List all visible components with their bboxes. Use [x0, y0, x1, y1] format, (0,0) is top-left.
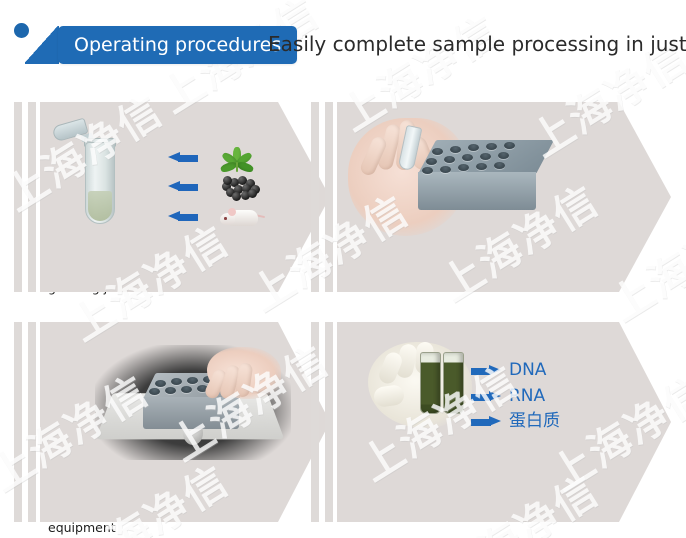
right-arrow-icon	[471, 416, 501, 427]
adapter-block-photo	[418, 140, 536, 212]
output-row-rna: RNA	[471, 388, 545, 405]
adapter-hole	[468, 144, 479, 151]
sample-vial	[443, 352, 464, 414]
adapter-hole	[498, 152, 509, 159]
adapter-hole	[450, 146, 461, 153]
adapter-hole	[149, 388, 160, 395]
adapter-hole	[480, 153, 491, 160]
header: Operating procedures Easily complete sam…	[0, 0, 686, 86]
adapter-hole	[426, 158, 437, 165]
operating-procedures-infographic: Operating procedures Easily complete sam…	[0, 0, 686, 538]
badge-tail-decoration	[25, 26, 59, 64]
left-arrow-icon	[168, 181, 198, 192]
page-title: Easily complete sample processing in jus…	[268, 29, 686, 60]
adapter-hole	[155, 380, 166, 387]
card-stripe-inner	[325, 322, 333, 522]
headline-text-before: Easily complete sample processing in jus…	[268, 32, 686, 56]
card-stripe-outer	[311, 102, 319, 292]
output-label-protein: 蛋白质	[509, 413, 560, 430]
adapter-hole	[181, 386, 192, 393]
badge-label: Operating procedures	[74, 36, 281, 55]
hand-photo-03	[207, 347, 281, 399]
adapter-block-front	[143, 397, 239, 429]
card-stripe-inner	[28, 322, 36, 522]
output-label-rna: RNA	[509, 388, 545, 405]
adapter-hole	[494, 162, 505, 169]
grinding-beads-icon	[220, 173, 260, 199]
right-arrow-icon	[471, 365, 501, 376]
sample-vial	[420, 352, 441, 414]
card-stripe-outer	[311, 322, 319, 522]
adapter-hole	[165, 387, 176, 394]
tube-sample-liquid	[88, 191, 112, 221]
adapter-hole	[462, 154, 473, 161]
output-row-dna: DNA	[471, 362, 546, 379]
adapter-block-front	[418, 172, 536, 210]
centrifuge-tube-icon	[85, 128, 115, 224]
mouse-icon	[220, 203, 264, 229]
grinding-machine-photo	[95, 345, 291, 460]
input-row-leaf	[168, 142, 254, 172]
adapter-hole	[458, 164, 469, 171]
output-row-protein: 蛋白质	[471, 413, 560, 430]
adapter-hole	[444, 156, 455, 163]
input-row-beads	[168, 173, 260, 199]
adapter-hole	[171, 378, 182, 385]
adapter-hole	[486, 143, 497, 150]
adapter-hole	[187, 377, 198, 384]
card-stripe-outer	[14, 322, 22, 522]
leaf-icon	[220, 142, 254, 172]
input-row-mouse	[168, 203, 264, 229]
adapter-hole	[504, 142, 515, 149]
right-arrow-icon	[471, 391, 501, 402]
adapter-hole	[432, 148, 443, 155]
left-arrow-icon	[168, 211, 198, 222]
card-stripe-outer	[14, 102, 22, 292]
glove-thumb	[373, 384, 405, 408]
left-arrow-icon	[168, 152, 198, 163]
card-stripe-inner	[325, 102, 333, 292]
output-label-dna: DNA	[509, 362, 546, 379]
operating-procedures-badge: Operating procedures	[58, 26, 297, 64]
adapter-hole	[476, 163, 487, 170]
adapter-hole	[422, 167, 433, 174]
tube-body	[85, 142, 115, 224]
card-stripe-inner	[28, 102, 36, 292]
adapter-hole	[440, 166, 451, 173]
